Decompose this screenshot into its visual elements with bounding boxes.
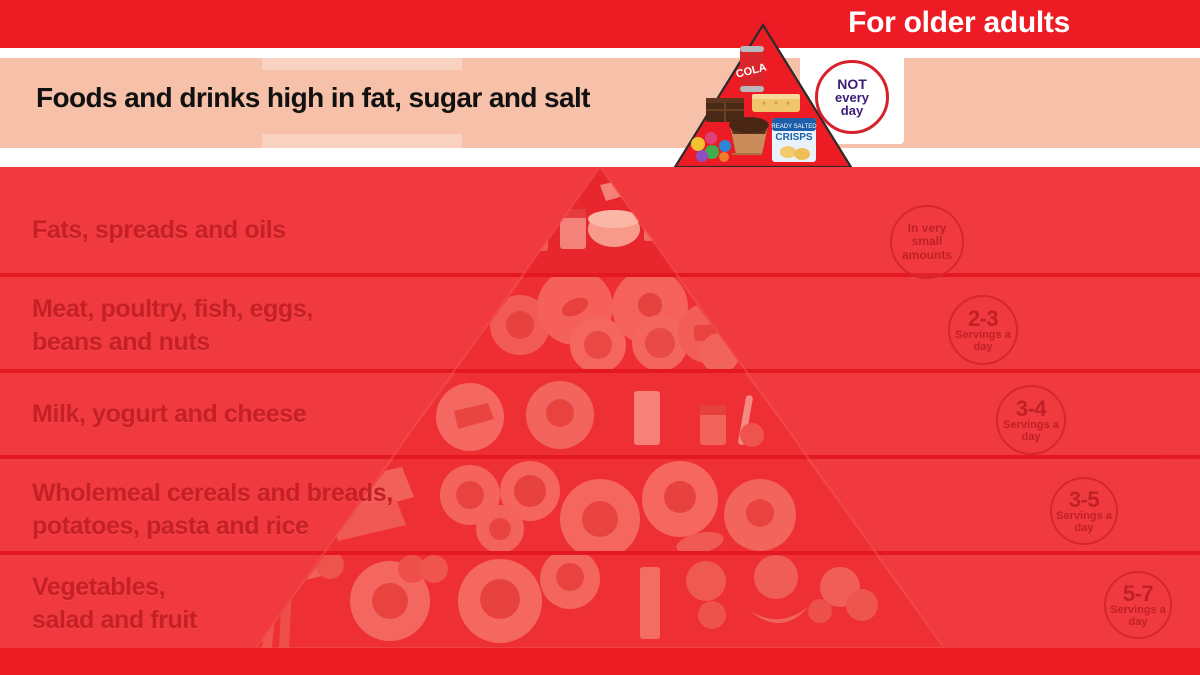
tier-label-protein: Meat, poultry, fish, eggs, beans and nut…: [32, 293, 313, 358]
tier-label-starch: Wholemeal cereals and breads, potatoes, …: [32, 477, 393, 542]
tier-divider: [0, 551, 1200, 555]
pyramid-base-strip: [0, 648, 1200, 675]
serving-badge-vegfruit: 5-7 Servings a day: [1104, 571, 1172, 639]
serving-badge-text: Servings a day: [950, 330, 1016, 353]
not-badge-line1: NOT: [837, 77, 867, 91]
top-banner: For older adults: [0, 0, 1200, 48]
serving-badge-count: 2-3: [968, 307, 998, 330]
band-highlight-bottom: [262, 134, 462, 148]
audience-label: For older adults: [848, 6, 1070, 40]
serving-badge-text: Servings a day: [1106, 605, 1170, 628]
pyramid-area: Fats, spreads and oils Meat, poultry, fi…: [0, 167, 1200, 675]
treats-title: Foods and drinks high in fat, sugar and …: [36, 82, 590, 114]
serving-badge-count: 5-7: [1123, 582, 1153, 605]
tier-divider: [0, 455, 1200, 459]
not-badge-line3: day: [841, 104, 863, 117]
tier-divider: [0, 369, 1200, 373]
serving-badge-text: Servings a day: [1052, 511, 1116, 534]
biscuit-icon: [752, 94, 800, 112]
serving-badge-count: 3-4: [1016, 397, 1046, 420]
serving-badge-text: In very small amounts: [892, 222, 962, 262]
tier-label-vegfruit: Vegetables, salad and fruit: [32, 571, 197, 636]
tier-divider: [0, 273, 1200, 277]
svg-text:CRISPS: CRISPS: [775, 132, 813, 143]
serving-badge-protein: 2-3 Servings a day: [948, 295, 1018, 365]
infographic-canvas: For older adults Foods and drinks high i…: [0, 0, 1200, 675]
tier-label-fats: Fats, spreads and oils: [32, 214, 286, 247]
tier-label-dairy: Milk, yogurt and cheese: [32, 398, 306, 431]
not-every-day-badge: NOT every day: [815, 60, 889, 134]
band-highlight-top: [262, 58, 462, 70]
serving-badge-starch: 3-5 Servings a day: [1050, 477, 1118, 545]
svg-text:READY SALTED: READY SALTED: [771, 124, 817, 130]
not-badge-line2: every: [835, 91, 869, 104]
serving-badge-fats: In very small amounts: [890, 205, 964, 279]
cupcake-icon: [729, 117, 769, 154]
serving-badge-text: Servings a day: [998, 420, 1064, 443]
serving-badge-dairy: 3-4 Servings a day: [996, 385, 1066, 455]
crisps-bag-icon: READY SALTED CRISPS: [771, 118, 817, 162]
serving-badge-count: 3-5: [1069, 488, 1099, 511]
